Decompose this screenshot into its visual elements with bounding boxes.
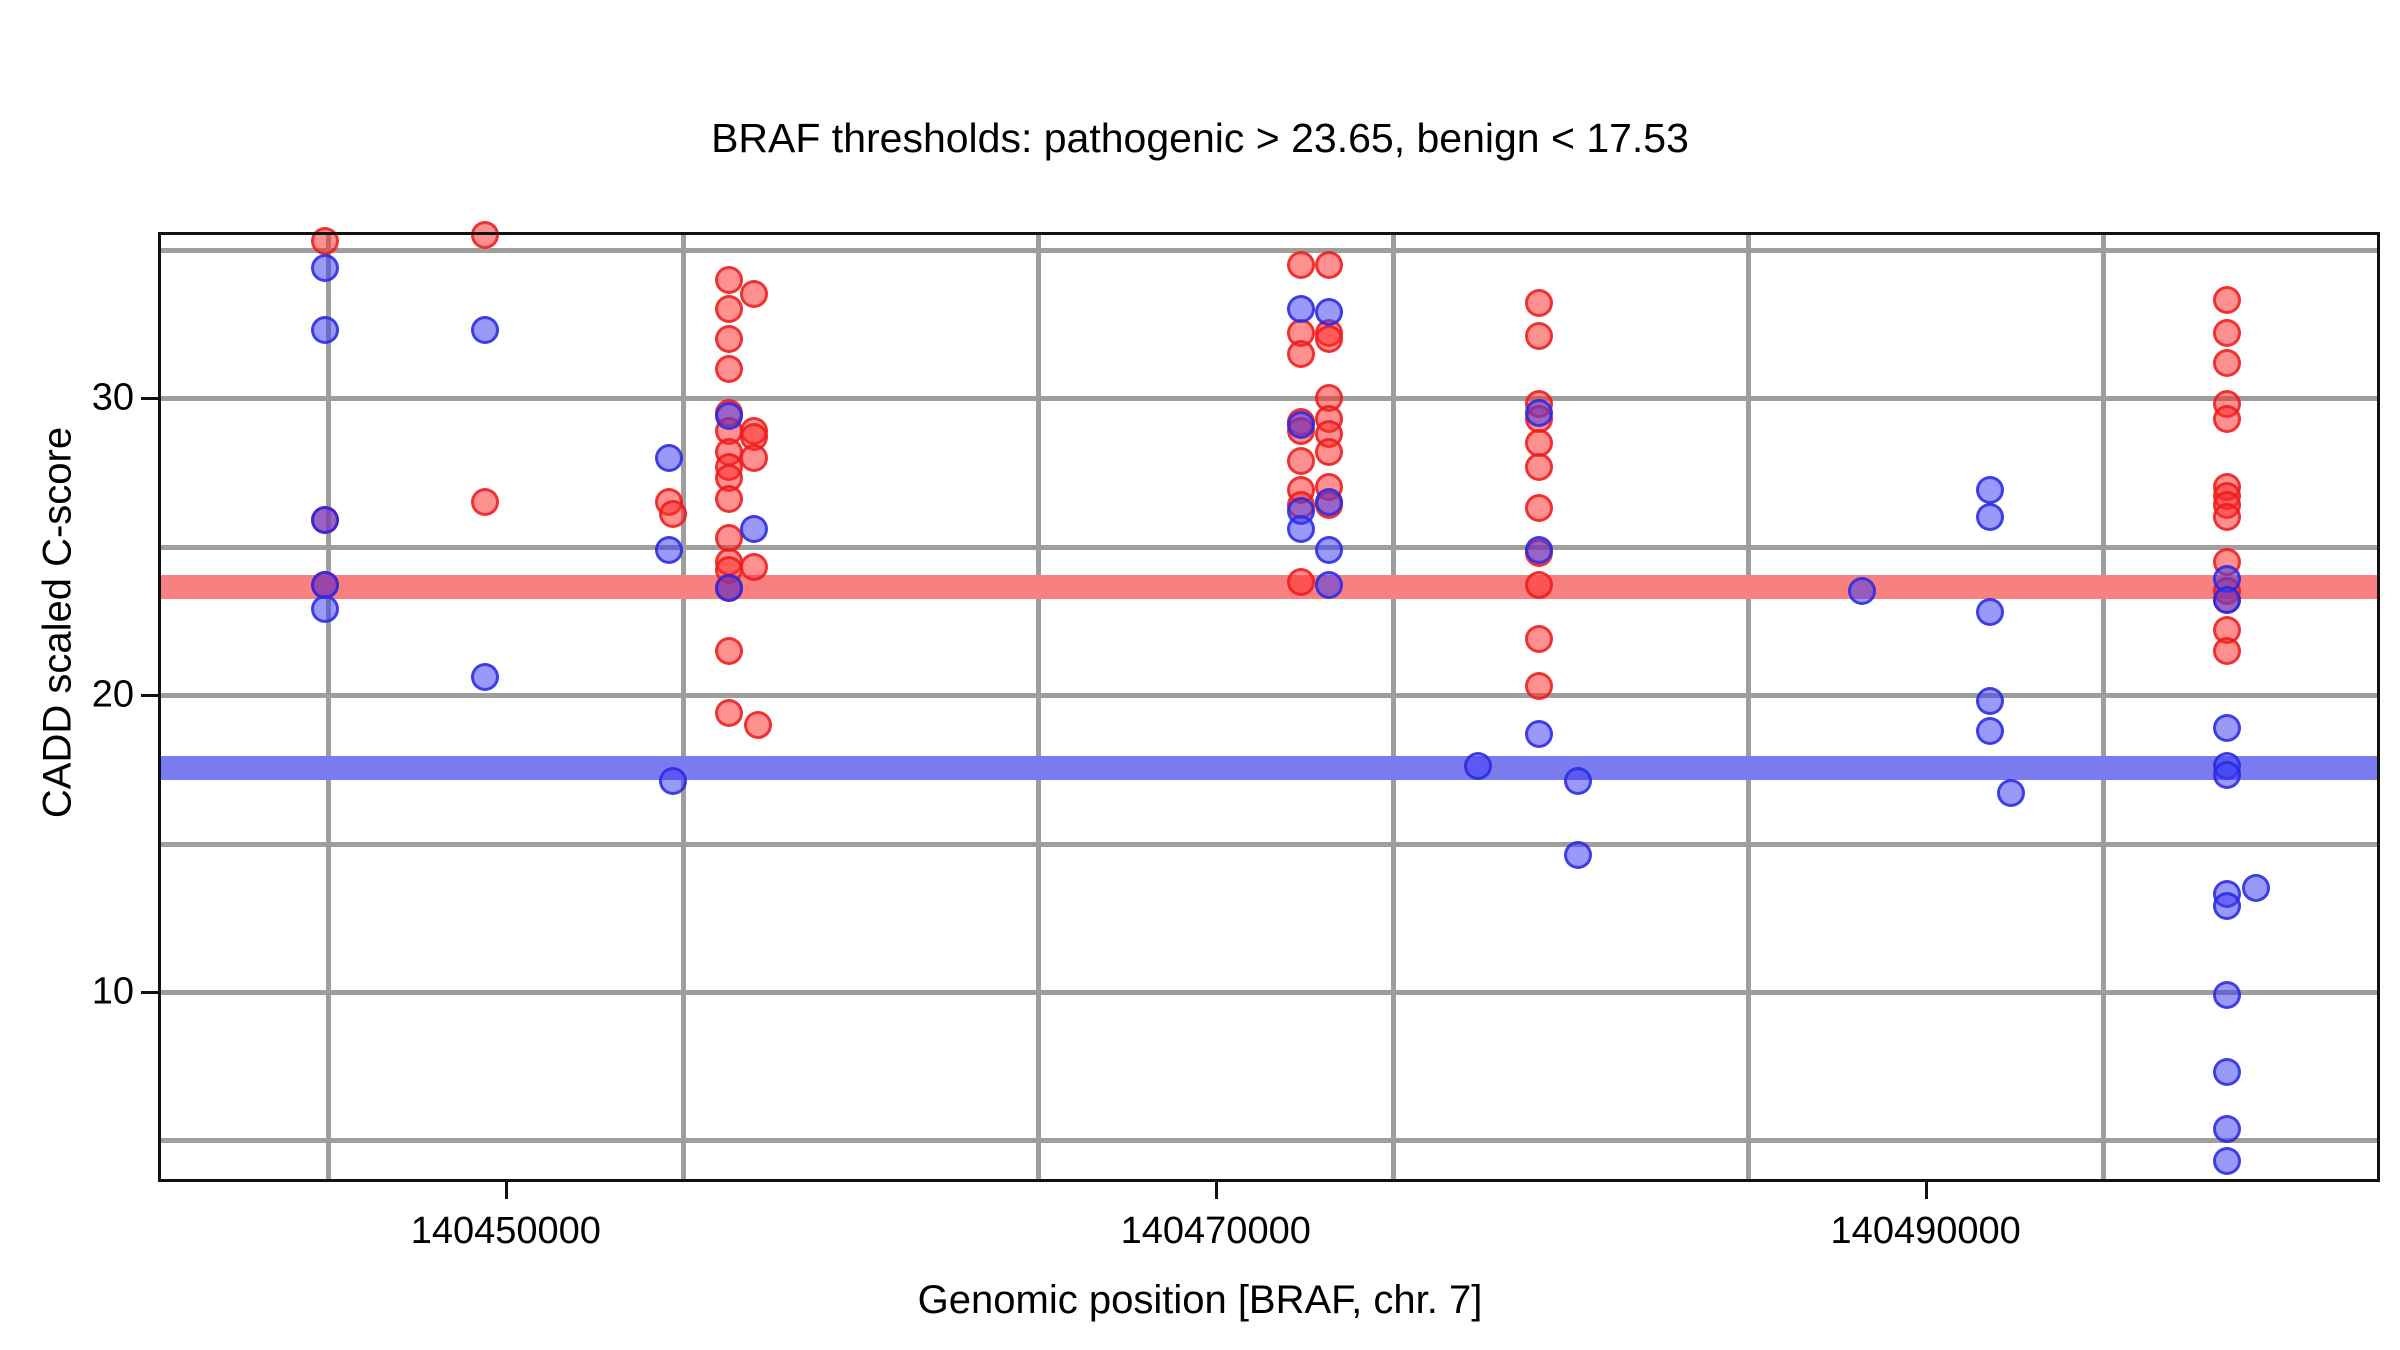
data-point-pathogenic — [2213, 349, 2241, 377]
data-point-pathogenic — [740, 553, 768, 581]
data-point-pathogenic — [715, 295, 743, 323]
data-point-pathogenic — [1525, 672, 1553, 700]
data-point-benign — [311, 506, 339, 534]
data-point-benign — [2242, 874, 2270, 902]
data-point-pathogenic — [715, 325, 743, 353]
gridline-horizontal — [158, 396, 2380, 401]
data-point-pathogenic — [659, 500, 687, 528]
data-point-benign — [2213, 1147, 2241, 1175]
data-point-pathogenic — [715, 699, 743, 727]
data-point-benign — [655, 536, 683, 564]
data-point-pathogenic — [715, 485, 743, 513]
data-point-benign — [311, 316, 339, 344]
y-tick-label: 10 — [0, 971, 134, 1014]
chart-figure: BRAF thresholds: pathogenic > 23.65, ben… — [0, 0, 2400, 1350]
data-point-pathogenic — [2213, 286, 2241, 314]
y-tick-mark — [141, 694, 158, 697]
data-point-benign — [2213, 892, 2241, 920]
y-tick-label: 20 — [0, 674, 134, 717]
gridline-vertical — [681, 232, 686, 1182]
gridline-vertical — [326, 232, 331, 1182]
benign-threshold-band — [158, 756, 2380, 780]
gridline-horizontal — [158, 842, 2380, 847]
data-point-pathogenic — [740, 444, 768, 472]
data-point-benign — [1976, 476, 2004, 504]
data-point-benign — [1525, 720, 1553, 748]
data-point-pathogenic — [471, 488, 499, 516]
data-point-pathogenic — [1525, 289, 1553, 317]
data-point-benign — [2213, 586, 2241, 614]
gridline-horizontal — [158, 990, 2380, 995]
data-point-benign — [1997, 779, 2025, 807]
data-point-benign — [1525, 399, 1553, 427]
data-point-benign — [659, 767, 687, 795]
gridline-horizontal — [158, 545, 2380, 550]
gridline-vertical — [1391, 232, 1396, 1182]
y-tick-mark — [141, 397, 158, 400]
gridline-horizontal — [158, 693, 2380, 698]
data-point-benign — [1848, 577, 1876, 605]
gridline-vertical — [1036, 232, 1041, 1182]
data-point-benign — [1315, 298, 1343, 326]
data-point-pathogenic — [2213, 405, 2241, 433]
gridline-horizontal — [158, 248, 2380, 253]
data-point-benign — [311, 595, 339, 623]
data-point-benign — [1976, 503, 2004, 531]
data-point-pathogenic — [2213, 503, 2241, 531]
data-point-pathogenic — [715, 637, 743, 665]
data-point-benign — [2213, 1058, 2241, 1086]
data-point-pathogenic — [1525, 625, 1553, 653]
data-point-pathogenic — [2213, 637, 2241, 665]
data-point-benign — [1976, 687, 2004, 715]
data-point-pathogenic — [2213, 319, 2241, 347]
data-point-pathogenic — [1525, 322, 1553, 350]
data-point-pathogenic — [1525, 453, 1553, 481]
data-point-benign — [1287, 515, 1315, 543]
gridline-vertical — [2101, 232, 2106, 1182]
x-axis-title: Genomic position [BRAF, chr. 7] — [0, 1278, 2400, 1323]
y-tick-mark — [141, 991, 158, 994]
data-point-benign — [2213, 1115, 2241, 1143]
x-tick-label: 140490000 — [1726, 1210, 2126, 1253]
panel-border-top — [158, 232, 2380, 235]
data-point-benign — [1464, 752, 1492, 780]
data-point-benign — [471, 663, 499, 691]
data-point-benign — [1315, 488, 1343, 516]
data-point-benign — [1525, 536, 1553, 564]
data-point-pathogenic — [1525, 571, 1553, 599]
data-point-pathogenic — [1287, 447, 1315, 475]
panel-border-right — [2377, 232, 2380, 1182]
data-point-benign — [471, 316, 499, 344]
data-point-benign — [715, 402, 743, 430]
data-point-pathogenic — [715, 355, 743, 383]
data-point-pathogenic — [1525, 494, 1553, 522]
data-point-benign — [2213, 761, 2241, 789]
gridline-vertical — [1746, 232, 1751, 1182]
data-point-benign — [2213, 714, 2241, 742]
data-point-benign — [1564, 841, 1592, 869]
data-point-benign — [1315, 571, 1343, 599]
data-point-benign — [311, 254, 339, 282]
data-point-benign — [1976, 717, 2004, 745]
data-point-pathogenic — [1287, 568, 1315, 596]
data-point-pathogenic — [715, 266, 743, 294]
pathogenic-threshold-band — [158, 575, 2380, 599]
data-point-pathogenic — [744, 711, 772, 739]
x-tick-mark — [505, 1182, 508, 1199]
panel-border-left — [158, 232, 161, 1182]
data-point-benign — [1315, 536, 1343, 564]
x-tick-mark — [1215, 1182, 1218, 1199]
gridline-horizontal — [158, 1138, 2380, 1143]
data-point-pathogenic — [1315, 438, 1343, 466]
data-point-benign — [1287, 295, 1315, 323]
data-point-pathogenic — [1287, 251, 1315, 279]
data-point-pathogenic — [1315, 325, 1343, 353]
data-point-benign — [655, 444, 683, 472]
x-tick-label: 140450000 — [306, 1210, 706, 1253]
data-point-benign — [1564, 767, 1592, 795]
data-point-benign — [715, 574, 743, 602]
y-tick-label: 30 — [0, 377, 134, 420]
plot-panel: 140450000140470000140490000 — [158, 232, 2380, 1182]
data-point-pathogenic — [1315, 251, 1343, 279]
data-point-benign — [740, 515, 768, 543]
panel-border-bottom — [158, 1179, 2380, 1182]
data-point-benign — [1287, 411, 1315, 439]
x-tick-mark — [1925, 1182, 1928, 1199]
data-point-benign — [1976, 598, 2004, 626]
x-tick-label: 140470000 — [1016, 1210, 1416, 1253]
title-line-1: BRAF thresholds: pathogenic > 23.65, ben… — [0, 112, 2400, 164]
data-point-pathogenic — [740, 280, 768, 308]
data-point-benign — [2213, 981, 2241, 1009]
data-point-pathogenic — [1287, 340, 1315, 368]
